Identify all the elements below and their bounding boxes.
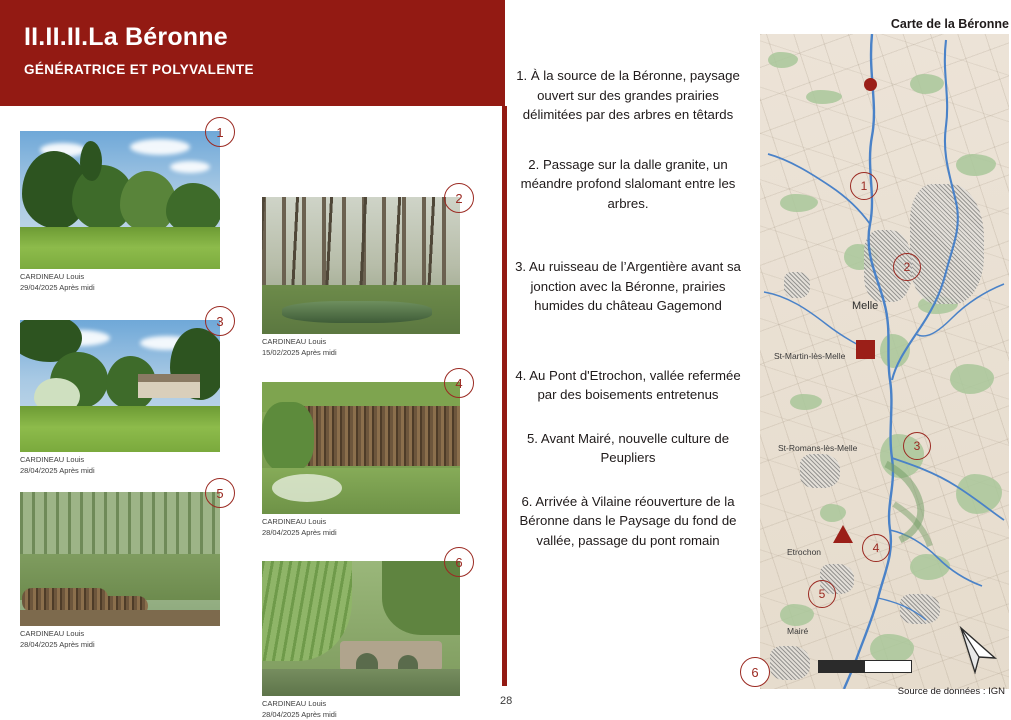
description-item-4: 4. Au Pont d'Etrochon, vallée refermée p… [512,366,744,405]
photo-4-caption: CARDINEAU Louis 28/04/2025 Après midi [262,517,460,538]
photo-marker-5: 5 [205,478,235,508]
photo-block-4: CARDINEAU Louis 28/04/2025 Après midi 4 [262,382,460,538]
map-marker-6: 6 [740,657,770,687]
photo-block-2: CARDINEAU Louis 15/02/2025 Après midi 2 [262,197,460,358]
photo-marker-3: 3 [205,306,235,336]
page-title: II.II.II.La Béronne [24,23,228,52]
map-label-etrochon: Etrochon [787,547,821,557]
photo-marker-1: 1 [205,117,235,147]
photo-block-5: CARDINEAU Louis 28/04/2025 Après midi 5 [20,492,220,650]
photo-5-date: 28/04/2025 Après midi [20,640,220,651]
photo-3-image [20,320,220,452]
photo-block-1: CARDINEAU Louis 29/04/2025 Après midi 1 [20,131,220,293]
map-label-maire: Mairé [787,626,808,636]
photo-4-author: CARDINEAU Louis [262,517,326,526]
photo-6-author: CARDINEAU Louis [262,699,326,708]
melle-town-marker [856,340,875,359]
description-item-3: 3. Au ruisseau de l’Argentière avant sa … [512,257,744,316]
north-arrow-icon [955,624,999,681]
vertical-divider [502,106,507,686]
photo-2-caption: CARDINEAU Louis 15/02/2025 Après midi [262,337,460,358]
photo-1-image [20,131,220,269]
photo-6-date: 28/04/2025 Après midi [262,710,460,720]
description-item-2: 2. Passage sur la dalle granite, un méan… [512,155,744,214]
map-source-caption: Source de données : IGN [760,686,1009,697]
map-marker-2: 2 [893,253,921,281]
photo-block-6: CARDINEAU Louis 28/04/2025 Après midi 6 [262,561,460,720]
etrochon-bridge-marker [833,525,853,543]
description-item-6: 6. Arrivée à Vilaine réouverture de la B… [512,492,744,551]
photo-marker-4: 4 [444,368,474,398]
description-item-5: 5. Avant Mairé, nouvelle culture de Peup… [512,429,744,468]
photo-2-image [262,197,460,334]
map-label-st-martin-les-melle: St-Martin-lès-Melle [774,351,845,361]
photo-2-date: 15/02/2025 Après midi [262,348,460,359]
photo-3-author: CARDINEAU Louis [20,455,84,464]
photo-4-date: 28/04/2025 Après midi [262,528,460,539]
photo-1-date: 29/04/2025 Après midi [20,283,220,294]
page-subtitle: GÉNÉRATRICE ET POLYVALENTE [24,62,254,77]
map-label-melle: Melle [852,300,878,312]
photo-marker-2: 2 [444,183,474,213]
photo-marker-6: 6 [444,547,474,577]
photo-1-author: CARDINEAU Louis [20,272,84,281]
source-point-marker [864,78,877,91]
description-item-1: 1. À la source de la Béronne, paysage ou… [512,66,744,125]
header-banner: II.II.II.La Béronne GÉNÉRATRICE ET POLYV… [0,0,505,106]
map-title: Carte de la Béronne [760,17,1009,31]
photo-2-author: CARDINEAU Louis [262,337,326,346]
map-marker-1: 1 [850,172,878,200]
river-network [760,34,1009,689]
page-number: 28 [500,695,512,707]
photo-6-image [262,561,460,696]
description-list: 1. À la source de la Béronne, paysage ou… [512,66,744,550]
map-image[interactable]: Melle St-Martin-lès-Melle St-Romans-lès-… [760,34,1009,689]
photo-3-date: 28/04/2025 Après midi [20,466,220,477]
map-label-st-romans-les-melle: St-Romans-lès-Melle [778,443,857,453]
photo-5-author: CARDINEAU Louis [20,629,84,638]
map-scale-bar [818,660,912,673]
photo-block-3: CARDINEAU Louis 28/04/2025 Après midi 3 [20,320,220,476]
map-marker-5: 5 [808,580,836,608]
photo-5-image [20,492,220,626]
photo-3-caption: CARDINEAU Louis 28/04/2025 Après midi [20,455,220,476]
photo-5-caption: CARDINEAU Louis 28/04/2025 Après midi [20,629,220,650]
map-marker-4: 4 [862,534,890,562]
photo-4-image [262,382,460,514]
photo-1-caption: CARDINEAU Louis 29/04/2025 Après midi [20,272,220,293]
map-marker-3: 3 [903,432,931,460]
